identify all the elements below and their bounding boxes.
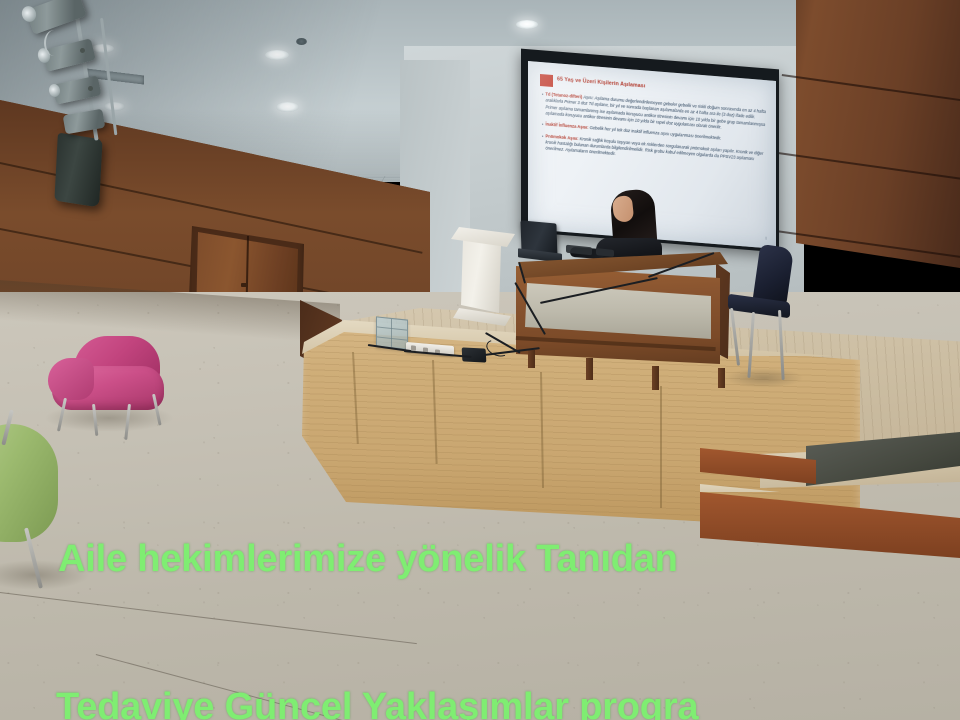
bullet-marker: • (542, 91, 543, 116)
caption-line-2: Tedaviye Güncel Yaklaşımlar progra (58, 683, 938, 720)
door-handle[interactable] (241, 283, 248, 287)
slide-page-number: 1 (765, 236, 767, 240)
navy-stacking-chair (726, 246, 808, 384)
spotlight-adjust-knob[interactable] (88, 86, 93, 91)
photo-scene: 65 Yaş ve Üzeri Kişilerin Aşılaması • Td… (0, 0, 960, 720)
desk-leg (586, 358, 593, 380)
spotlight-adjust-knob[interactable] (80, 48, 85, 53)
equipment-case (376, 316, 408, 349)
light-rig-cable (44, 30, 64, 56)
caption-line-1: Aile hekimlerimize yönelik Tanıdan (58, 535, 938, 584)
bullet-lead: İnaktif İnfluenza Aşısı: (545, 122, 589, 131)
case-edge (377, 326, 407, 330)
desk-leg (652, 366, 659, 390)
armchair-shell (0, 424, 58, 542)
green-armchair (0, 424, 62, 584)
pink-armchair (46, 336, 164, 416)
desk-leg (528, 350, 535, 368)
armchair-armrest (48, 358, 94, 400)
slide-title: 65 Yaş ve Üzeri Kişilerin Aşılaması (557, 76, 645, 89)
wall-speaker (54, 133, 102, 208)
chair-leg (778, 310, 785, 380)
slide-bullet-list: • Td (Tetanoz-difteri) Aşısı: Aşılama du… (542, 91, 768, 175)
chair-leg (747, 312, 755, 378)
case-edge (377, 336, 407, 340)
slide-accent-square (540, 74, 553, 87)
bullet-marker: • (542, 122, 543, 128)
case-edge (391, 319, 392, 347)
bullet-marker: • (542, 133, 543, 152)
chair-leg (730, 308, 740, 366)
caption-overlay: Aile hekimlerimize yönelik Tanıdan Tedav… (58, 436, 938, 720)
